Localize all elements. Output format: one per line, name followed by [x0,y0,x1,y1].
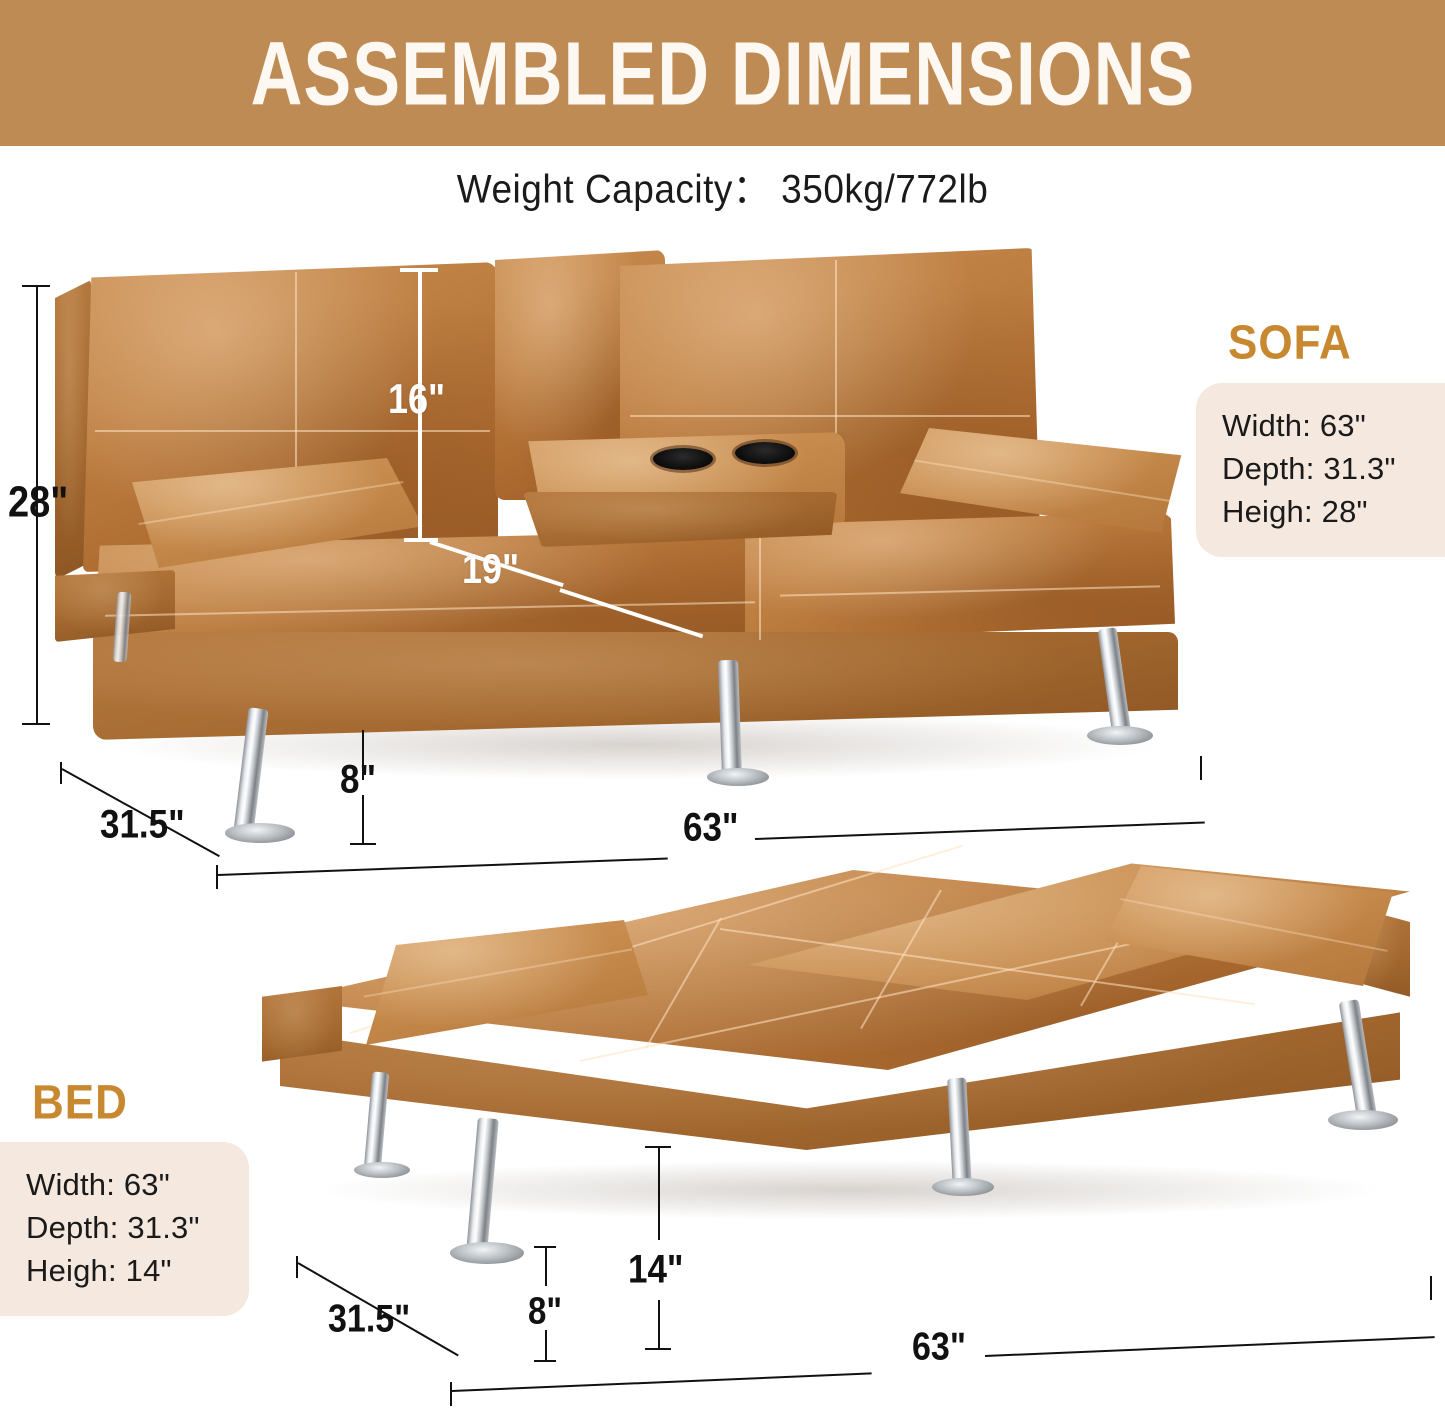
weight-capacity-text: Weight Capacity： 350kg/772lb [0,156,1445,214]
bed-height-line-upper [658,1148,660,1240]
bed-legheight-tick-bottom [534,1360,556,1362]
sofa-height-tick-top [22,285,50,287]
dim-label-16in: 16" [388,375,445,423]
bed-leg-foot-mid [932,1178,994,1196]
sofa-width-tick-left [216,865,218,889]
bed-width-line-right [985,1336,1435,1357]
sofa-backheight-tick-top [400,268,438,272]
bed-leg-foot-front-left [450,1242,524,1264]
bed-height-tick-top [645,1146,671,1148]
bed-spec-depth: Depth: 31.3" [26,1207,223,1250]
sofa-backrest-seam-h2 [630,415,1030,417]
cup-holder-left [653,448,713,470]
bed-illustration [250,860,1445,1280]
dim-label-31-5in-bed: 31.5" [328,1297,410,1342]
sofa-spec-height: Heigh: 28" [1222,491,1419,534]
sofa-leg-foot-front-right [707,768,769,786]
sofa-spec-card: Width: 63" Depth: 31.3" Heigh: 28" [1196,383,1445,557]
sofa-backrest-seam-h1 [95,430,490,432]
bed-spec-card: Width: 63" Depth: 31.3" Heigh: 14" [0,1142,249,1316]
sofa-leg-front-right [718,660,742,779]
dim-label-8in-sofa: 8" [340,757,376,803]
bed-width-tick-right [1430,1276,1432,1300]
bed-width-tick-left [450,1382,452,1406]
dim-label-63in-sofa: 63" [683,805,739,851]
bed-heading: BED [32,1076,128,1131]
sofa-leg-foot-front-left [225,823,295,843]
bed-depth-tick [296,1256,298,1278]
dim-label-14in: 14" [628,1247,684,1293]
dim-label-28in: 28" [8,479,68,528]
bed-spec-width: Width: 63" [26,1164,223,1207]
dim-label-63in-bed: 63" [912,1325,966,1370]
sofa-spec-width: Width: 63" [1222,405,1419,448]
dim-label-31-5in-sofa: 31.5" [100,802,185,848]
bed-legheight-line-upper [545,1248,547,1286]
bed-leg-foot-right [1328,1110,1398,1130]
sofa-backheight-line-lower [418,432,422,540]
sofa-legheight-tick-bottom [350,843,376,845]
sofa-depth-tick [60,762,62,784]
bed-leg-foot-back-left [354,1162,410,1178]
sofa-width-tick-right [1200,756,1202,780]
cup-holder-right [735,442,795,464]
dim-label-19in: 19" [462,545,519,593]
bed-legheight-line-lower [545,1330,547,1362]
bed-width-line-left [452,1372,872,1392]
sofa-height-tick-bottom [22,723,50,725]
bed-height-tick-bottom [645,1348,671,1350]
bed-height-line-lower [658,1300,660,1350]
sofa-illustration [45,240,1205,860]
bed-spec-height: Heigh: 14" [26,1250,223,1293]
sofa-seat-seam-2 [759,520,761,640]
sofa-leg-foot-right [1087,726,1153,745]
sofa-spec-depth: Depth: 31.3" [1222,448,1419,491]
header-banner: ASSEMBLED DIMENSIONS [0,0,1445,146]
sofa-heading: SOFA [1228,316,1352,371]
page-title: ASSEMBLED DIMENSIONS [250,21,1195,125]
bed-legheight-tick-top [534,1246,556,1248]
dim-label-8in-bed: 8" [528,1289,562,1333]
